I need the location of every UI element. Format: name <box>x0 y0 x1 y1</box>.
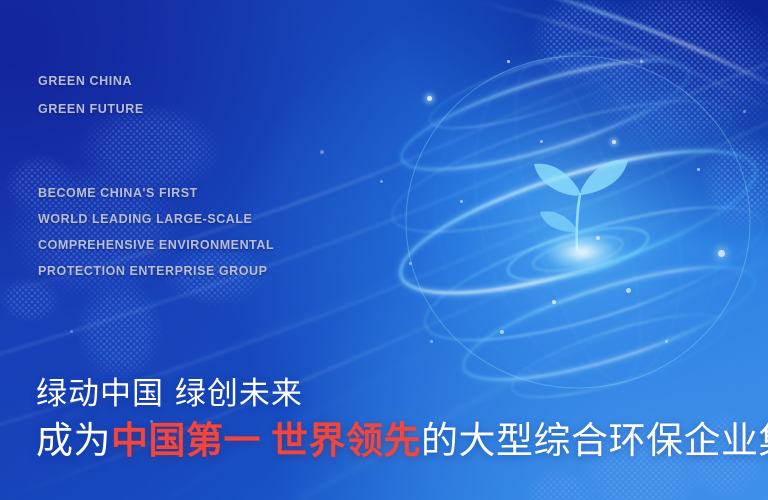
tagline-line-1: GREEN CHINA <box>38 74 132 88</box>
headline-cn-prefix: 成为 <box>36 419 111 462</box>
hero-banner: GREEN CHINA GREEN FUTURE BECOME CHINA'S … <box>0 0 768 500</box>
headline-cn-accent-2: 世界领先 <box>271 419 421 462</box>
slogan-en-line-3: COMPREHENSIVE ENVIRONMENTAL <box>38 238 274 252</box>
headline-cn-line-1: 绿动中国 绿创未来 <box>36 368 303 413</box>
headline-cn-accent-1: 中国第一 <box>111 419 261 462</box>
headline-cn-suffix: 的大型综合环保企业集团 <box>421 419 768 462</box>
tagline-line-2: GREEN FUTURE <box>38 102 144 116</box>
slogan-en-line-2: WORLD LEADING LARGE-SCALE <box>38 212 252 226</box>
slogan-en-line-1: BECOME CHINA'S FIRST <box>38 186 198 200</box>
headline-cn-line-2: 成为中国第一世界领先的大型综合环保企业集团 <box>36 410 768 464</box>
slogan-en-line-4: PROTECTION ENTERPRISE GROUP <box>38 264 267 278</box>
